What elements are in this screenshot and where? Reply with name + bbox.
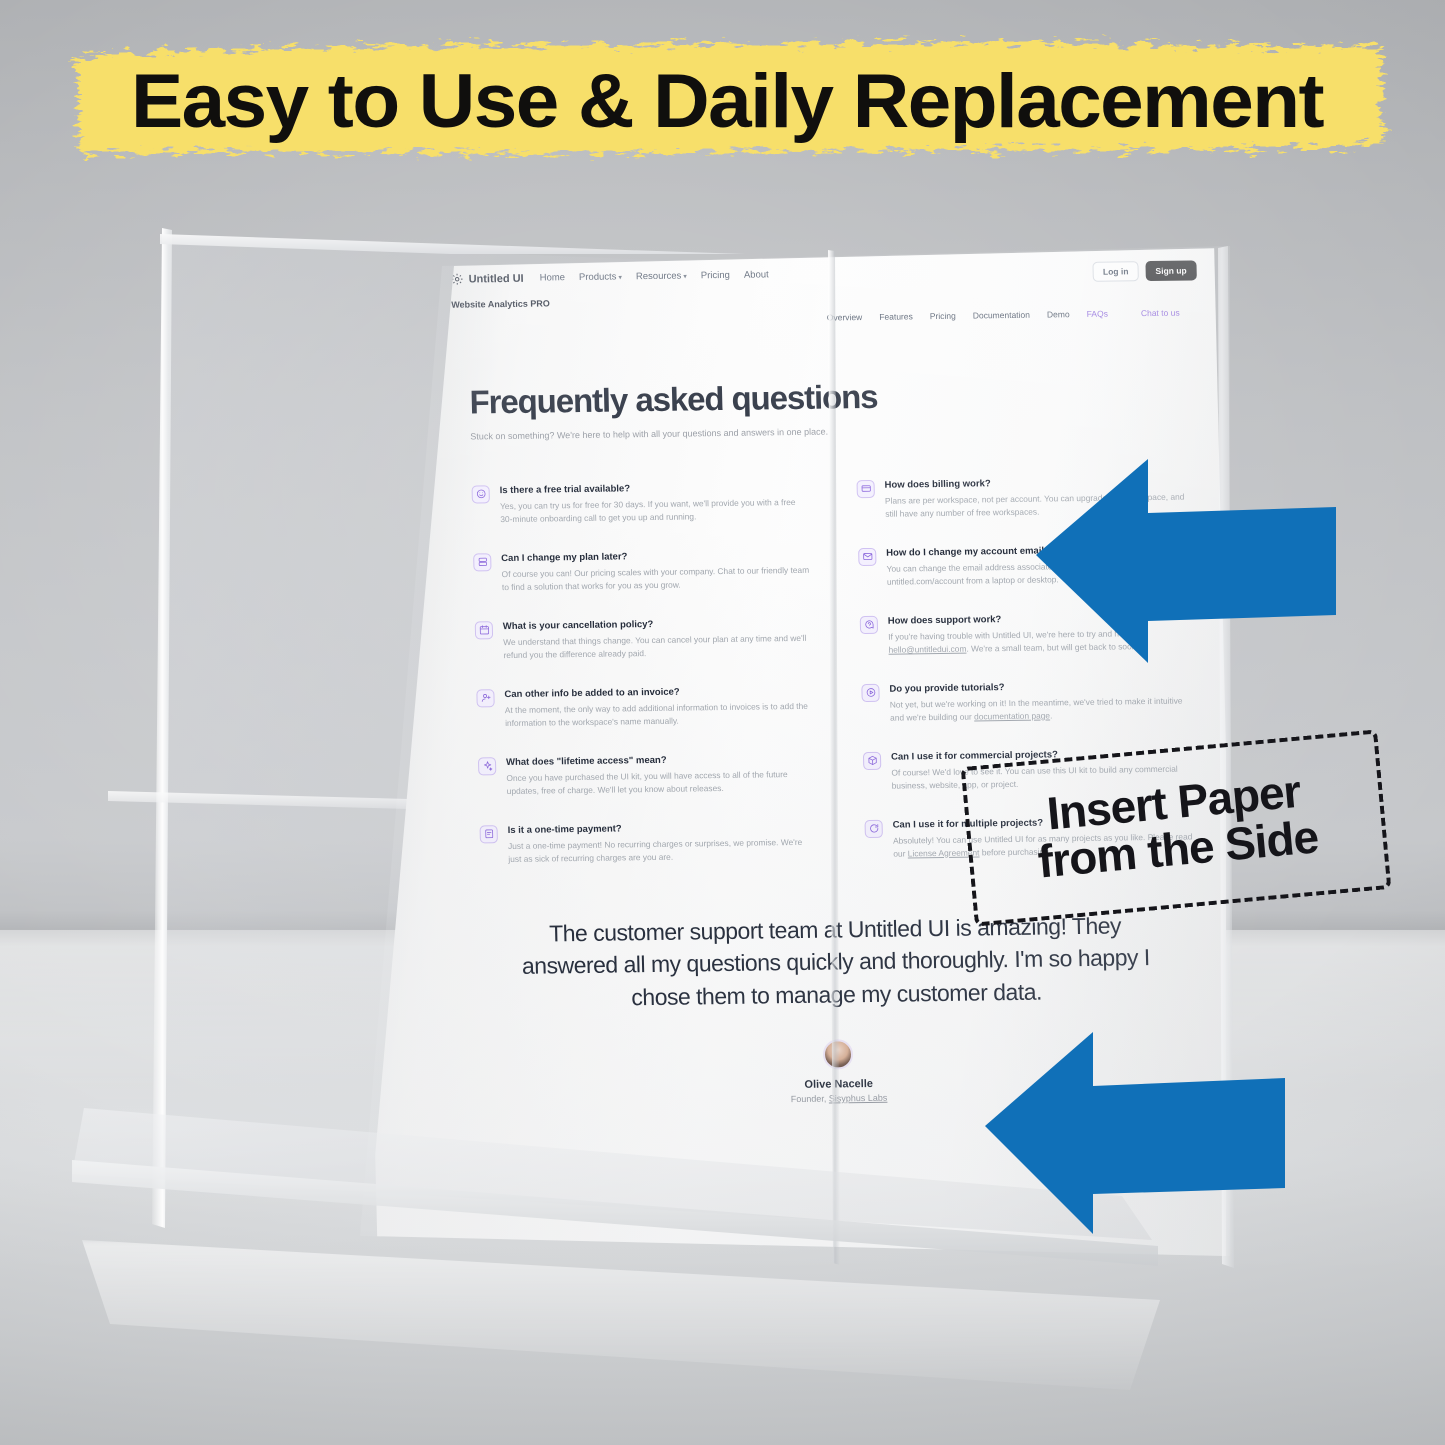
billing-card-icon [856,480,874,498]
subnav-item-faqs[interactable]: FAQs [1087,309,1109,319]
faq-item[interactable]: Do you provide tutorials?Not yet, but we… [861,679,1199,725]
user-plus-icon [476,689,494,707]
faq-question: Can other info be added to an invoice? [504,684,813,699]
secondary-nav-links: Overview Features Pricing Documentation … [827,308,1180,323]
primary-navbar: Untitled UI Home Products ▾ Resources ▾ … [450,262,1188,285]
refresh-icon [864,820,882,838]
arrow-pointing-left-bottom [985,1030,1285,1235]
nav-item-pricing[interactable]: Pricing [701,270,730,281]
insert-paper-callout-text: Insert Paper from the Side [1032,767,1320,886]
faq-item[interactable]: Can I change my plan later?Of course you… [473,548,811,594]
subnav-item-documentation[interactable]: Documentation [973,310,1030,321]
primary-nav-links: Home Products ▾ Resources ▾ Pricing Abou… [540,269,769,283]
subnav-item-features[interactable]: Features [879,311,913,321]
faq-answer: Of course you can! Our pricing scales wi… [501,563,811,593]
layers-icon [473,553,491,571]
faq-answer-link[interactable]: documentation page [974,710,1050,721]
faq-item[interactable]: Is it a one-time payment?Just a one-time… [480,821,818,867]
signup-button[interactable]: Sign up [1145,260,1197,281]
nav-action-buttons: Log in Sign up [1093,260,1197,281]
login-button[interactable]: Log in [1093,261,1139,282]
secondary-navbar: Website Analytics PRO Overview Features … [451,289,1190,339]
chevron-down-icon: ▾ [616,274,622,281]
nav-item-home[interactable]: Home [540,272,566,283]
faq-answer: Once you have purchased the UI kit, you … [506,767,816,797]
headline-banner: Easy to Use & Daily Replacement [62,28,1392,166]
calendar-icon [475,621,493,639]
nav-item-about[interactable]: About [744,269,769,280]
faq-answer: We understand that things change. You ca… [503,631,813,661]
faq-item[interactable]: Is there a free trial available?Yes, you… [472,480,810,526]
faq-answer-link[interactable]: hello@untitledui.com [888,643,966,654]
brand-logo[interactable]: Untitled UI [450,272,523,286]
brand-name: Untitled UI [469,272,524,285]
faq-hero: Frequently asked questions Stuck on some… [453,375,1192,441]
faq-question: What is your cancellation policy? [503,616,812,631]
faq-answer: Yes, you can try us for free for 30 days… [500,495,810,525]
chevron-down-icon: ▾ [681,274,687,281]
subnav-item-demo[interactable]: Demo [1047,309,1070,319]
faq-answer: Just a one-time payment! No recurring ch… [508,836,818,866]
faq-question: Can I change my plan later? [501,548,810,563]
arrow-pointing-left-top [1036,455,1336,665]
subnav-item-pricing[interactable]: Pricing [930,311,956,321]
box-icon [863,752,881,770]
chat-to-us-link[interactable]: Chat to us [1141,308,1180,319]
faq-answer: Not yet, but we're working on it! In the… [890,694,1200,724]
faq-question: Is it a one-time payment? [508,821,817,836]
support-icon [860,616,878,634]
faq-item[interactable]: Can other info be added to an invoice?At… [476,684,814,730]
faq-question: What does "lifetime access" mean? [506,753,815,768]
nav-item-resources[interactable]: Resources ▾ [636,271,687,283]
headline-text: Easy to Use & Daily Replacement [42,58,1412,145]
faq-answer: At the moment, the only way to add addit… [505,699,815,729]
nav-item-products[interactable]: Products ▾ [579,271,622,283]
smiley-icon [472,485,490,503]
faq-item[interactable]: What does "lifetime access" mean?Once yo… [478,753,816,799]
faq-item[interactable]: What is your cancellation policy?We unde… [475,616,813,662]
sparkle-icon [478,757,496,775]
product-tag: Website Analytics PRO [451,289,1189,309]
faq-question: Is there a free trial available? [500,480,809,495]
play-circle-icon [861,684,879,702]
faq-question: Do you provide tutorials? [889,679,1198,694]
role-prefix: Founder, [791,1093,829,1104]
mail-icon [858,548,876,566]
receipt-icon [480,825,498,843]
